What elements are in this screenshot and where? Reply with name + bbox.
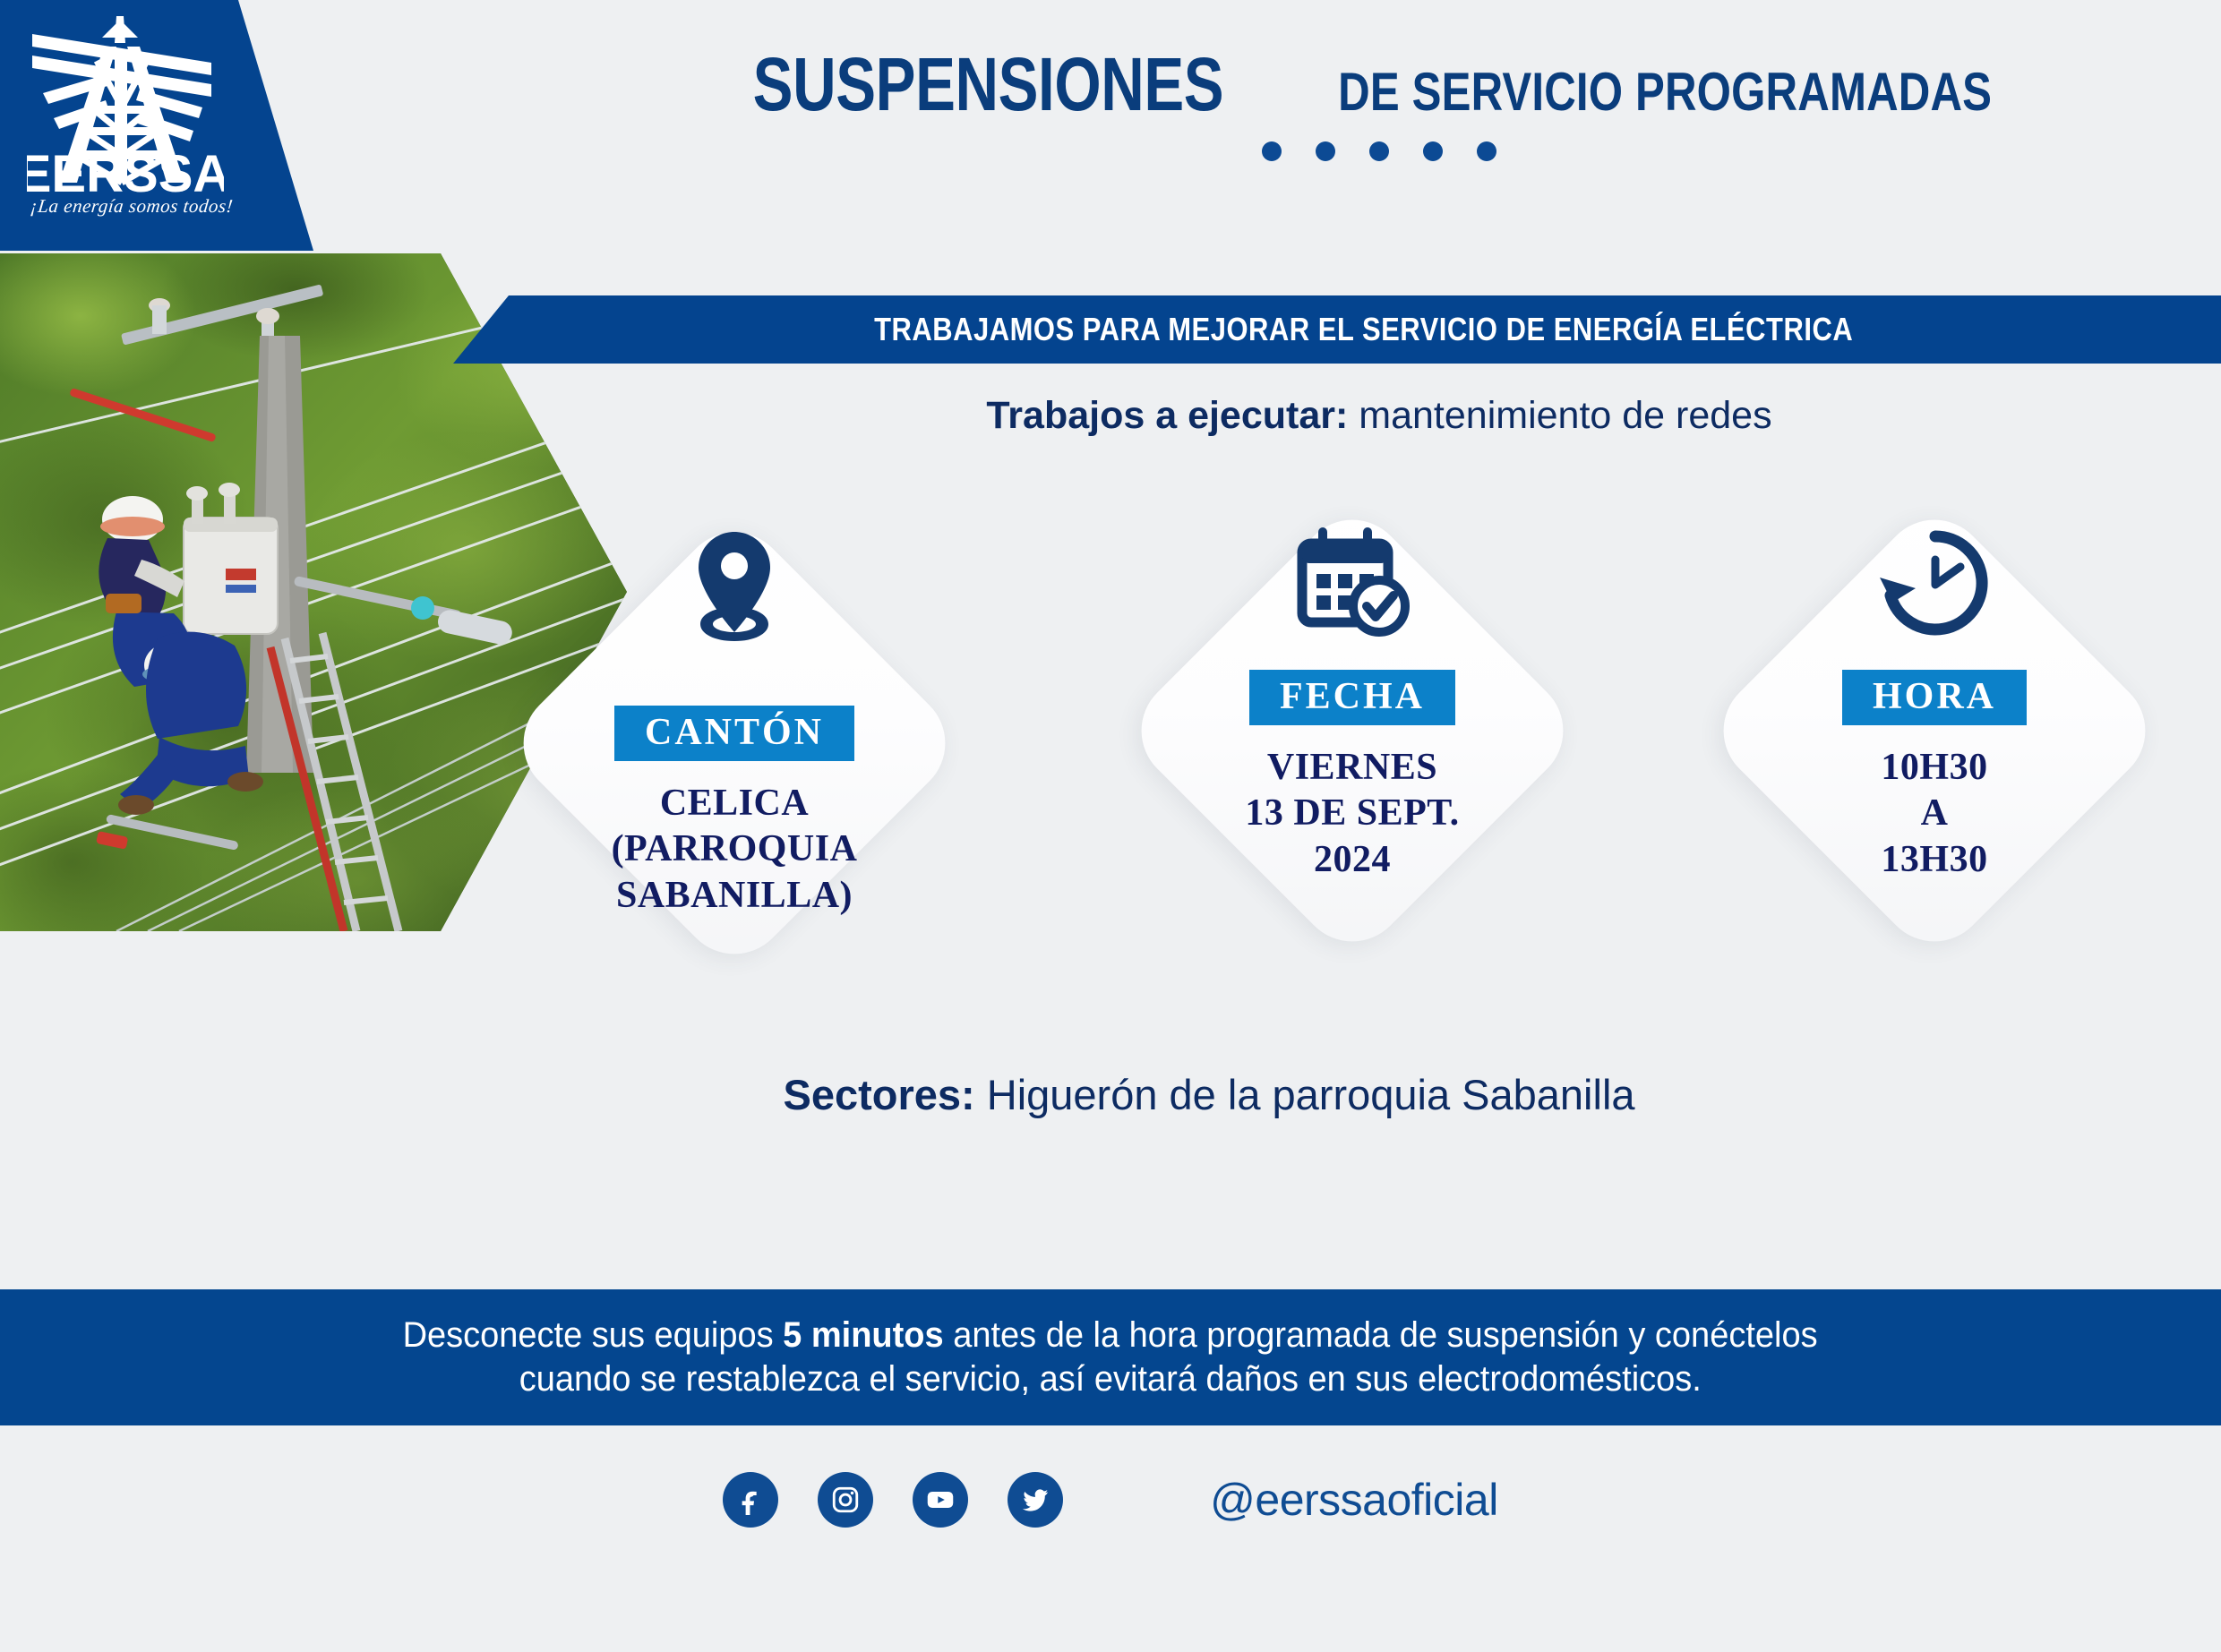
dot [1369,141,1389,161]
footer-line-1-bold: 5 minutos [784,1315,944,1355]
youtube-icon[interactable] [913,1472,968,1528]
card-value: 10H30 A 13H30 [1881,745,1987,883]
sectors-line: Sectores: Higuerón de la parroquia Saban… [358,1070,2060,1119]
dot [1423,141,1443,161]
footer-line-1b: antes de la hora programada de suspensió… [944,1315,1818,1355]
calendar-check-icon [1291,516,1413,650]
card-fecha: FECHA VIERNES 13 DE SEPT. 2024 [1119,498,1585,963]
instagram-icon[interactable] [818,1472,873,1528]
clock-rotate-icon [1876,516,1993,650]
title-dots [591,141,2167,161]
card-value: VIERNES 13 DE SEPT. 2024 [1245,745,1459,883]
transmission-tower-icon: EERSSA [27,7,224,200]
logo-wordmark: EERSSA [27,145,224,200]
footer-line-1: Desconecte sus equipos 5 minutos antes d… [403,1314,1818,1357]
card-canton: CANTÓN CELICA (PARROQUIA SABANILLA) [502,510,967,976]
social-bar: @eerssaoficial [0,1446,2221,1554]
social-handle: @eerssaoficial [1210,1474,1498,1526]
title-sub: DE SERVICIO PROGRAMADAS [1338,65,1992,119]
works-value: mantenimiento de redes [1359,394,1771,437]
page-title: SUSPENSIONESDE SERVICIO PROGRAMADAS [591,47,2167,161]
works-line: Trabajos a ejecutar: mantenimiento de re… [591,394,2167,438]
location-pin-icon [686,519,783,654]
title-main: SUSPENSIONES [753,47,1223,122]
banner-text: TRABAJAMOS PARA MEJORAR EL SERVICIO DE E… [820,311,1853,348]
footer-notice: Desconecte sus equipos 5 minutos antes d… [0,1289,2221,1425]
footer-line-2: cuando se restablezca el servicio, así e… [519,1357,1702,1401]
sectors-value: Higuerón de la parroquia Sabanilla [987,1071,1635,1118]
card-hora: HORA 10H30 A 13H30 [1702,498,2167,963]
card-badge: HORA [1842,670,2027,725]
card-badge: CANTÓN [614,706,854,761]
twitter-icon[interactable] [1008,1472,1063,1528]
sectors-label: Sectores: [783,1071,974,1118]
dot [1477,141,1496,161]
card-badge: FECHA [1249,670,1455,725]
info-cards: CANTÓN CELICA (PARROQUIA SABANILLA) [502,510,2221,1066]
footer-line-1a: Desconecte sus equipos [403,1315,784,1355]
dot [1316,141,1335,161]
logo-slogan: ¡La energía somos todos! [19,195,245,218]
dot [1262,141,1282,161]
card-value: CELICA (PARROQUIA SABANILLA) [502,781,967,919]
eerssa-logo-block: EERSSA ¡La energía somos todos! [0,0,313,251]
banner: TRABAJAMOS PARA MEJORAR EL SERVICIO DE E… [453,295,2221,364]
works-label: Trabajos a ejecutar: [986,394,1348,437]
facebook-icon[interactable] [723,1472,778,1528]
